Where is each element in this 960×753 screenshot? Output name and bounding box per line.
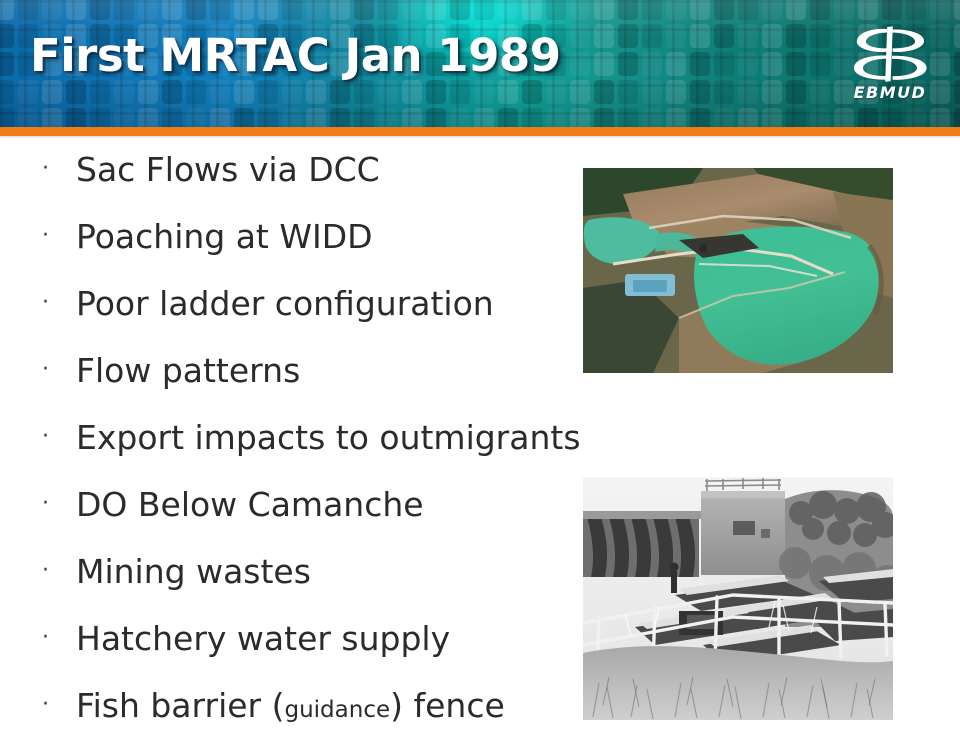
bullet-text: Flow patterns (76, 351, 662, 390)
bullet-list: ·Sac Flows via DCC·Poaching at WIDD·Poor… (42, 150, 662, 753)
ebmud-wordmark: EBMUD (842, 83, 938, 102)
bullet-text-post: ) fence (390, 686, 505, 725)
bullet-item: ·Poor ladder configuration (42, 284, 662, 351)
bullet-text: Fish barrier (guidance) fence (76, 686, 662, 725)
bullet-marker-icon: · (42, 426, 76, 448)
ebmud-monogram-icon (842, 26, 938, 82)
bullet-marker-icon: · (42, 225, 76, 247)
bullet-marker-icon: · (42, 694, 76, 716)
bullet-item: ·Hatchery water supply (42, 619, 662, 686)
bullet-marker-icon: · (42, 158, 76, 180)
bullet-item: ·Poaching at WIDD (42, 217, 662, 284)
bullet-text-pre: Fish barrier ( (76, 686, 284, 725)
bullet-text: Export impacts to outmigrants (76, 418, 662, 457)
bullet-text: Hatchery water supply (76, 619, 662, 658)
bullet-marker-icon: · (42, 493, 76, 515)
bullet-item: ·Export impacts to outmigrants (42, 418, 662, 485)
bullet-item: ·Mining wastes (42, 552, 662, 619)
bullet-text: Poaching at WIDD (76, 217, 662, 256)
bullet-text: Mining wastes (76, 552, 662, 591)
bullet-marker-icon: · (42, 292, 76, 314)
bullet-marker-icon: · (42, 359, 76, 381)
bullet-item: ·Sac Flows via DCC (42, 150, 662, 217)
orange-divider (0, 127, 960, 136)
page-title: First MRTAC Jan 1989 (30, 29, 561, 82)
bullet-text: Sac Flows via DCC (76, 150, 662, 189)
ebmud-logo: EBMUD (842, 26, 938, 110)
bullet-text: Poor ladder configuration (76, 284, 662, 323)
bullet-item: ·Flow patterns (42, 351, 662, 418)
bullet-marker-icon: · (42, 560, 76, 582)
bullet-text: DO Below Camanche (76, 485, 662, 524)
bullet-marker-icon: · (42, 627, 76, 649)
slide: First MRTAC Jan 1989 EBMUD (0, 0, 960, 720)
bullet-text-parenthetical: guidance (284, 697, 390, 723)
bullet-item: ·DO Below Camanche (42, 485, 662, 552)
